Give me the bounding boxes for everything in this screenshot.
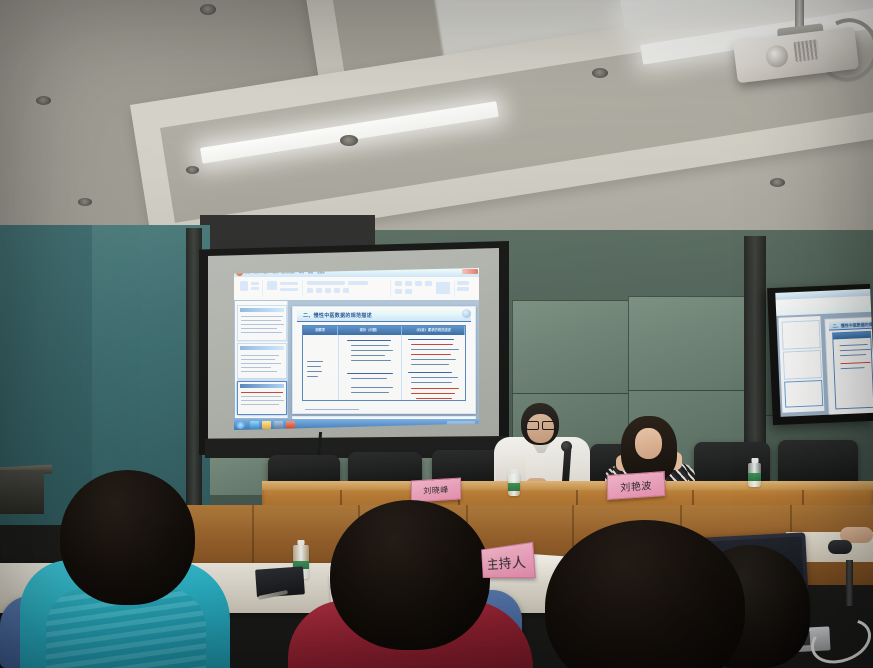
table-row-label-cell — [303, 335, 339, 400]
table-header-cell: 《标准》要求的规范描述 — [402, 326, 465, 335]
monitor-slide-title: 二、慢性中医数据的规范描述 — [829, 320, 873, 331]
wireless-mouse — [828, 540, 852, 554]
media-icon[interactable] — [274, 421, 283, 429]
downlight-icon — [186, 166, 199, 174]
name-placard-moderator: 主持人 — [481, 542, 536, 578]
slide-comparison-table: 观察项 现状（问题） 《标准》要求的规范描述 — [302, 325, 466, 401]
acoustic-wall-panel — [628, 296, 750, 394]
window-controls[interactable] — [462, 269, 478, 274]
monitor-current-slide: 二、慢性中医数据的规范描述 — [824, 317, 873, 416]
ppt-icon[interactable] — [286, 421, 295, 429]
downlight-icon — [36, 96, 51, 105]
monitor-thumbnail-pane — [778, 316, 824, 413]
acoustic-wall-panel — [512, 300, 632, 397]
projector-vent — [793, 39, 819, 62]
panel-table-top-edge — [262, 481, 873, 490]
panel-chair — [348, 452, 422, 484]
name-placard-left: 刘晓峰 — [411, 477, 461, 502]
ribbon-group-slides[interactable] — [264, 280, 303, 297]
table-body — [303, 335, 465, 400]
projector-lens-icon — [765, 44, 790, 69]
podium — [0, 470, 44, 514]
table-header-cell: 现状（问题） — [338, 326, 401, 335]
slide-thumbnail-selected[interactable] — [237, 381, 287, 415]
downlight-icon — [78, 198, 92, 206]
current-slide: 二、慢性中医数据的规范描述 观察项 现状（问题） 《标准》要求的规范描述 — [292, 306, 476, 414]
table-cell-standard-requirement — [402, 335, 465, 400]
ppt-ribbon[interactable] — [234, 277, 479, 301]
female-panelist-face — [635, 428, 662, 459]
audience-cyan-hair — [60, 470, 195, 605]
table-header-cell: 观察项 — [303, 326, 338, 335]
ie-icon[interactable] — [250, 421, 259, 429]
charging-cable — [805, 611, 873, 668]
side-monitor-screen: 二、慢性中医数据的规范描述 — [775, 289, 873, 417]
ribbon-group-font[interactable] — [304, 280, 391, 297]
panel-chair — [778, 440, 858, 484]
table-cell-current-state — [339, 335, 403, 400]
institution-seal-icon — [462, 309, 471, 318]
slide-thumbnail[interactable] — [237, 343, 287, 379]
folder-icon[interactable] — [262, 421, 271, 429]
slide-title-bar: 二、慢性中医数据的规范描述 — [297, 310, 471, 322]
downlight-icon — [770, 178, 785, 187]
water-bottle — [748, 463, 761, 487]
ribbon-group-editing[interactable] — [456, 280, 471, 297]
slide-title-text: 二、慢性中医数据的规范描述 — [303, 312, 372, 319]
water-bottle — [508, 474, 520, 496]
downlight-icon — [340, 135, 358, 146]
placard-text: 刘艳波 — [620, 477, 652, 494]
downlight-icon — [592, 68, 608, 78]
ppt-slide-thumbnail-pane[interactable] — [235, 301, 288, 418]
projected-powerpoint-window: 开始 插入 设计 动画 幻灯片放映 审阅 视图 加载项 — [234, 268, 479, 430]
placard-text: 刘晓峰 — [423, 484, 449, 497]
slide-footer-note — [305, 409, 359, 410]
slide-thumbnail[interactable] — [237, 305, 287, 341]
ceiling — [0, 0, 873, 250]
side-display-monitor: 二、慢性中医数据的规范描述 — [767, 284, 873, 425]
monitor-slide-title-text: 二、慢性中医数据的规范描述 — [833, 321, 873, 329]
audience-red-hair — [330, 500, 490, 650]
table-header-row: 观察项 现状（问题） 《标准》要求的规范描述 — [303, 326, 465, 335]
ribbon-group-clipboard[interactable] — [238, 280, 263, 297]
microphone-head-icon — [561, 441, 572, 452]
eyeglasses-icon — [526, 421, 555, 428]
conference-room-photo: 开始 插入 设计 动画 幻灯片放映 审阅 视图 加载项 — [0, 0, 873, 668]
table-leg — [846, 560, 853, 606]
name-placard-right: 刘艳波 — [607, 471, 665, 500]
ribbon-group-paragraph[interactable] — [392, 280, 455, 297]
placard-text: 主持人 — [487, 550, 527, 572]
start-orb-icon[interactable] — [236, 421, 245, 429]
downlight-icon — [200, 4, 216, 15]
